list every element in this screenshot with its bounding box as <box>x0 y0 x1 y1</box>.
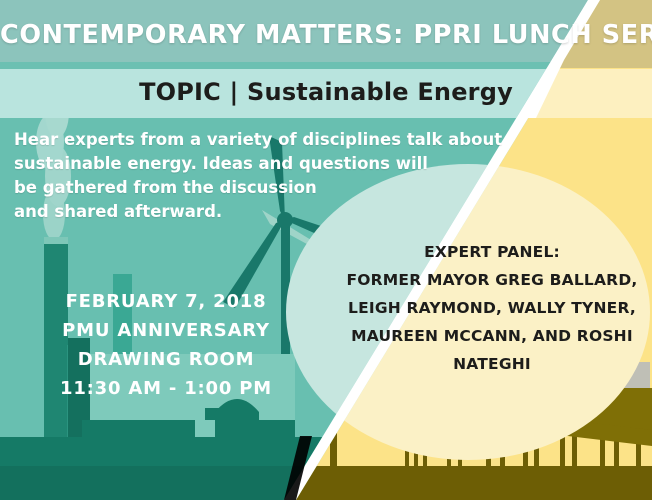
event-details-block: FEBRUARY 7, 2018 PMU ANNIVERSARY DRAWING… <box>42 287 290 403</box>
description-line-2: sustainable energy. Ideas and questions … <box>14 152 514 176</box>
description-line-1: Hear experts from a variety of disciplin… <box>14 128 514 152</box>
event-venue-line-2: DRAWING ROOM <box>42 345 290 374</box>
description-line-4: and shared afterward. <box>14 200 514 224</box>
expert-panel-line-4: NATEGHI <box>336 350 648 378</box>
poster-canvas: CONTEMPORARY MATTERS: PPRI LUNCH SERIES … <box>0 0 652 500</box>
event-venue-line-1: PMU ANNIVERSARY <box>42 316 290 345</box>
expert-panel-block: EXPERT PANEL: FORMER MAYOR GREG BALLARD,… <box>336 238 648 378</box>
expert-panel-heading: EXPERT PANEL: <box>336 238 648 266</box>
expert-panel-line-2: LEIGH RAYMOND, WALLY TYNER, <box>336 294 648 322</box>
poster-headline: CONTEMPORARY MATTERS: PPRI LUNCH SERIES <box>0 20 652 50</box>
event-time: 11:30 AM - 1:00 PM <box>42 374 290 403</box>
description-line-3: be gathered from the discussion <box>14 176 514 200</box>
poster-description: Hear experts from a variety of disciplin… <box>14 128 514 224</box>
event-date: FEBRUARY 7, 2018 <box>42 287 290 316</box>
expert-panel-line-3: MAUREEN MCCANN, AND ROSHI <box>336 322 648 350</box>
expert-panel-line-1: FORMER MAYOR GREG BALLARD, <box>336 266 648 294</box>
poster-topic-line: TOPIC | Sustainable Energy <box>0 78 652 106</box>
